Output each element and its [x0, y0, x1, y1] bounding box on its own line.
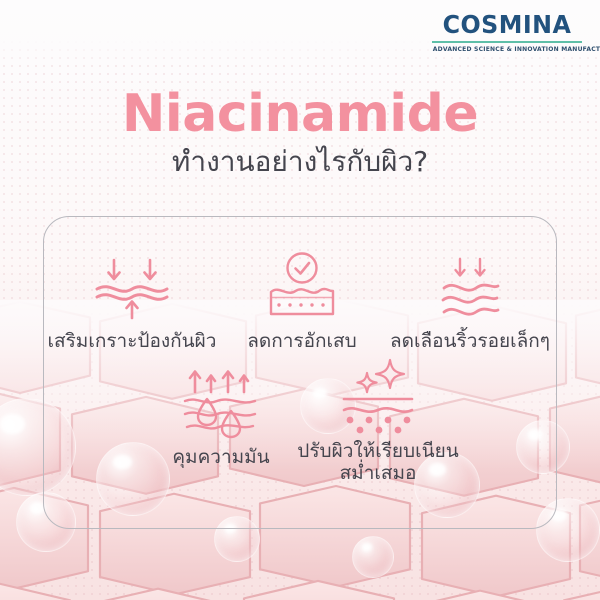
page-subtitle: ทำงานอย่างไรกับผิว?: [0, 146, 600, 178]
benefit-label: ลดการอักเสบ: [224, 330, 380, 352]
benefit-item-reduce-inflammation: ลดการอักเสบ: [224, 250, 380, 352]
brand-logo-tagline: ADVANCED SCIENCE & INNOVATION MANUFACTUR…: [433, 46, 582, 53]
brand-logo: COSMINA ADVANCED SCIENCE & INNOVATION MA…: [432, 12, 582, 53]
benefit-item-skin-barrier: เสริมเกราะป้องกันผิว: [32, 250, 232, 352]
benefit-item-reduce-fine-lines: ลดเลือนริ้วรอยเล็กๆ: [372, 250, 568, 352]
benefit-label: เสริมเกราะป้องกันผิว: [32, 330, 232, 352]
page-title: Niacinamide: [0, 88, 600, 140]
oil-control-icon: [179, 368, 263, 438]
reduce-fine-lines-icon: [430, 256, 510, 322]
smooth-even-skin-icon: [336, 356, 420, 432]
brand-logo-divider: [432, 41, 582, 43]
benefit-label: ลดเลือนริ้วรอยเล็กๆ: [372, 330, 568, 352]
benefit-label: คุมความมัน: [148, 446, 294, 468]
skin-barrier-icon: [89, 256, 175, 322]
decorative-bubble: [352, 536, 394, 578]
brand-logo-wordmark: COSMINA: [436, 12, 579, 37]
benefit-label: ปรับผิวให้เรียบเนียน สม่ำเสมอ: [292, 440, 464, 485]
reduce-inflammation-icon: [263, 250, 341, 322]
benefit-item-smooth-even-skin: ปรับผิวให้เรียบเนียน สม่ำเสมอ: [292, 360, 464, 485]
benefit-item-oil-control: คุมความมัน: [148, 366, 294, 468]
infographic-canvas: COSMINA ADVANCED SCIENCE & INNOVATION MA…: [0, 0, 600, 600]
